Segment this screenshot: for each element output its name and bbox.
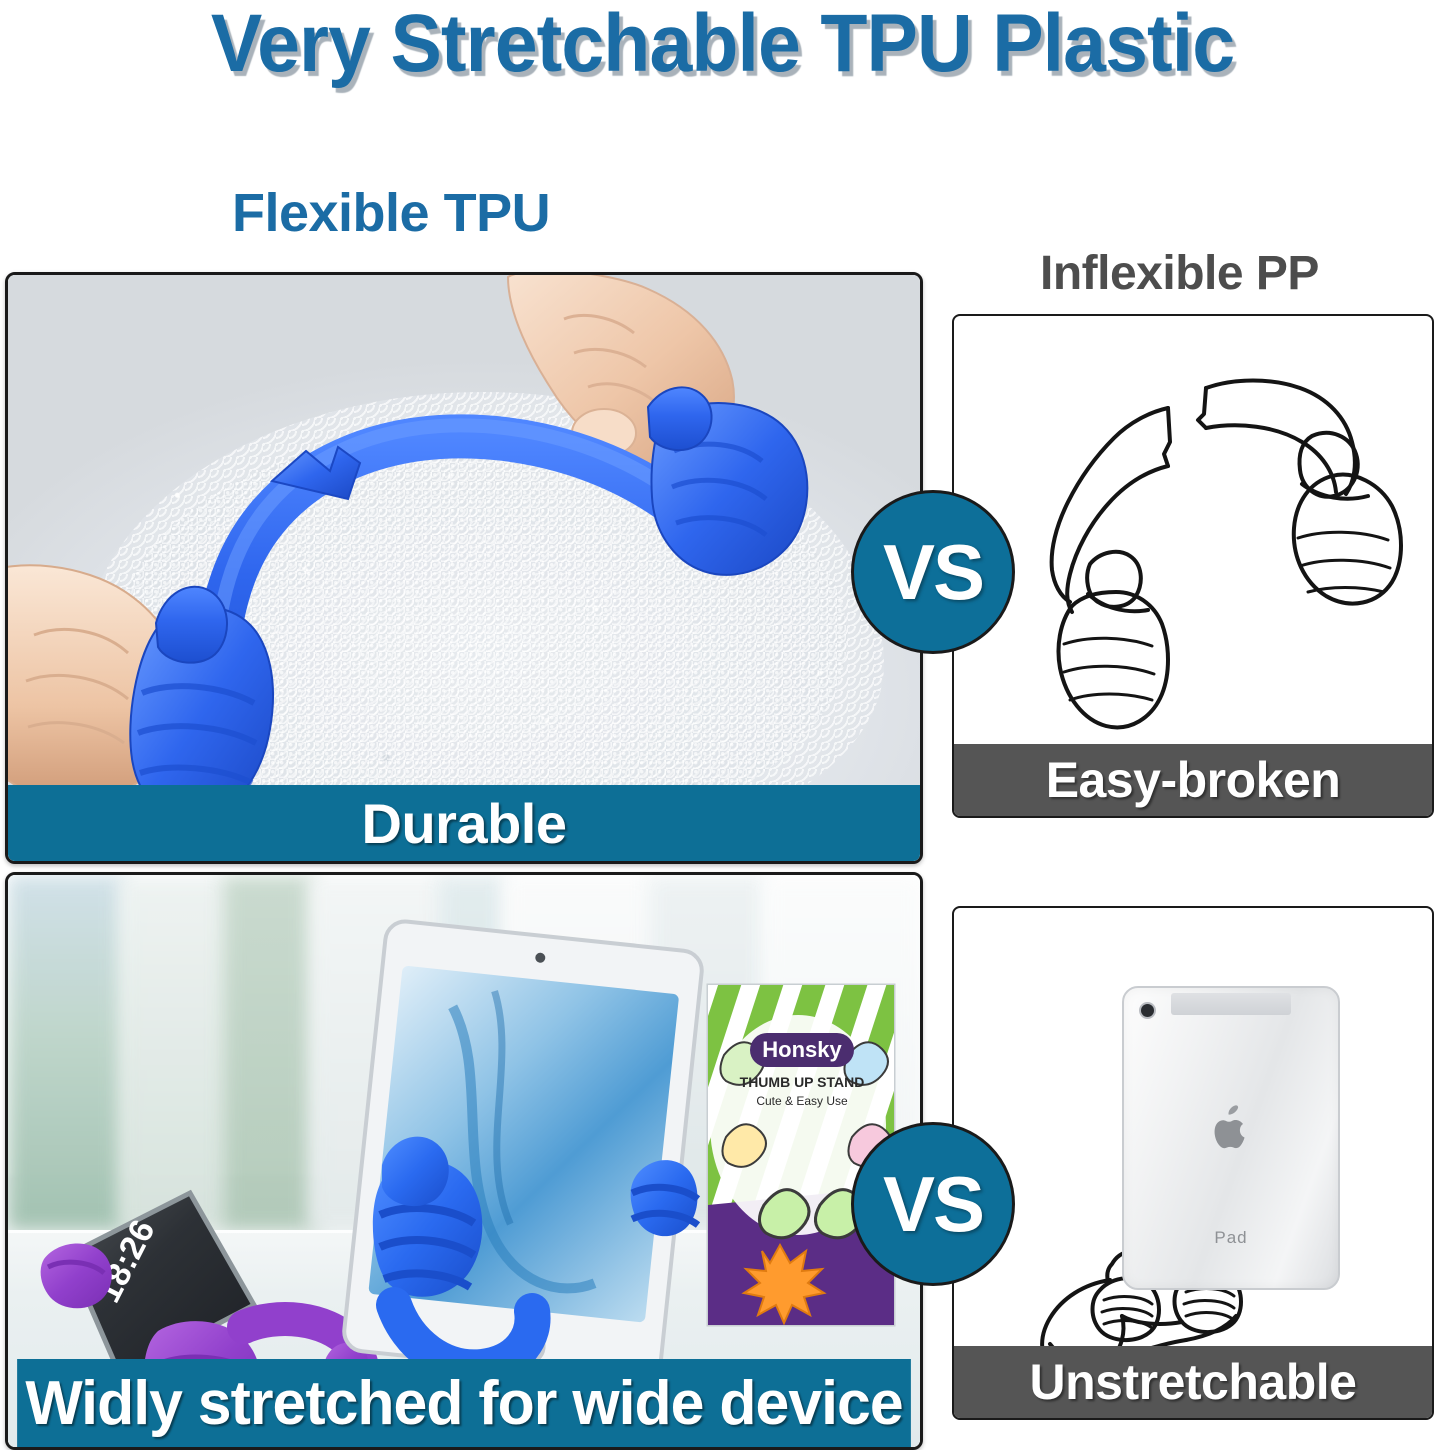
stretched-tpu-stand-illustration [8, 275, 920, 861]
broken-piece-right [1198, 381, 1401, 604]
broken-pp-stand-drawing [954, 316, 1432, 746]
vs-badge-bottom: VS [851, 1122, 1015, 1286]
subhead-inflexible-pp: Inflexible PP [1040, 246, 1319, 301]
vs-badge-top: VS [851, 490, 1015, 654]
ipad-model-word: Pad [1214, 1228, 1247, 1248]
infographic-root: Very Stretchable TPU Plastic Flexible TP… [0, 0, 1445, 1448]
subhead-flexible-tpu: Flexible TPU [232, 182, 550, 244]
tablet-on-blue-stand [342, 920, 703, 1383]
panel-unstretchable-drawing: Pad [952, 906, 1434, 1420]
panel-widly-stretched-photo: 18:26 [5, 872, 923, 1450]
caption-widly-stretched: Widly stretched for wide device [17, 1359, 911, 1447]
blue-thumb-right [648, 387, 807, 575]
tpu-strap [216, 425, 698, 745]
panel-durable-photo: Durable [5, 272, 923, 864]
caption-durable: Durable [8, 785, 920, 861]
ipad-antenna-band [1171, 993, 1291, 1015]
box-line2-text: Cute & Easy Use [756, 1094, 848, 1108]
caption-unstretchable: Unstretchable [954, 1346, 1432, 1418]
box-brand-text: Honsky [762, 1037, 842, 1062]
panel-easy-broken-drawing: Easy-broken [952, 314, 1434, 818]
apple-logo-icon [1210, 1102, 1252, 1150]
page-title: Very Stretchable TPU Plastic [43, 0, 1401, 88]
box-line1-text: THUMB UP STAND [740, 1074, 865, 1090]
broken-piece-left [1052, 408, 1170, 727]
ipad-back: Pad [1122, 986, 1340, 1290]
ipad-camera-icon [1141, 1004, 1154, 1017]
caption-easy-broken: Easy-broken [954, 744, 1432, 816]
